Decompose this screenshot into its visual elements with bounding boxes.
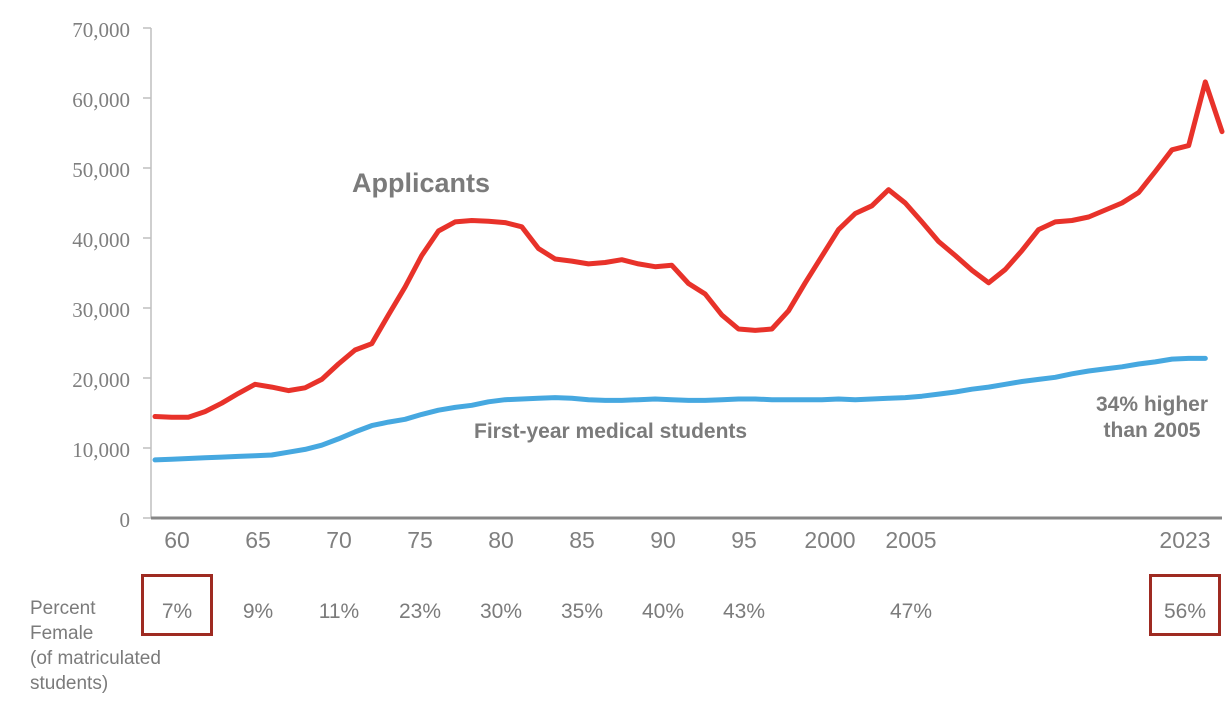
percent-female-value: 43% xyxy=(723,600,765,624)
x-axis-tick-label: 2023 xyxy=(1159,527,1210,554)
x-axis-tick-label: 65 xyxy=(245,527,271,554)
x-axis-tick-label: 70 xyxy=(326,527,352,554)
x-axis-tick-label: 95 xyxy=(731,527,757,554)
series-label-applicants: Applicants xyxy=(352,168,490,199)
x-axis-tick-label: 60 xyxy=(164,527,190,554)
x-axis-tick-label: 80 xyxy=(488,527,514,554)
x-axis-tick-label: 75 xyxy=(407,527,433,554)
percent-female-value: 23% xyxy=(399,600,441,624)
x-axis-tick-label: 2005 xyxy=(885,527,936,554)
annotation-line-1: 34% higher xyxy=(1076,392,1228,418)
percent-female-value: 35% xyxy=(561,600,603,624)
percent-female-value: 11% xyxy=(319,600,359,624)
percent-female-value: 9% xyxy=(243,600,273,624)
caption-line-4: students) xyxy=(30,671,220,696)
x-axis-tick-label: 85 xyxy=(569,527,595,554)
percent-female-value: 30% xyxy=(480,600,522,624)
annotation-line-2: than 2005 xyxy=(1076,418,1228,444)
percent-female-value: 40% xyxy=(642,600,684,624)
percent-female-value: 56% xyxy=(1164,600,1206,624)
percent-female-value: 47% xyxy=(890,600,932,624)
x-axis-tick-label: 2000 xyxy=(804,527,855,554)
annotation-34-percent-higher: 34% higher than 2005 xyxy=(1076,392,1228,444)
series-line-applicants xyxy=(155,82,1222,417)
x-axis-tick-label: 90 xyxy=(650,527,676,554)
percent-female-value: 7% xyxy=(162,600,192,624)
series-label-first-year-medical-students: First-year medical students xyxy=(474,420,747,444)
series-line-first-year-medical-students xyxy=(155,358,1205,460)
chart-figure: 70,000 60,000 50,000 40,000 30,000 20,00… xyxy=(0,0,1228,720)
caption-line-3: (of matriculated xyxy=(30,646,220,671)
